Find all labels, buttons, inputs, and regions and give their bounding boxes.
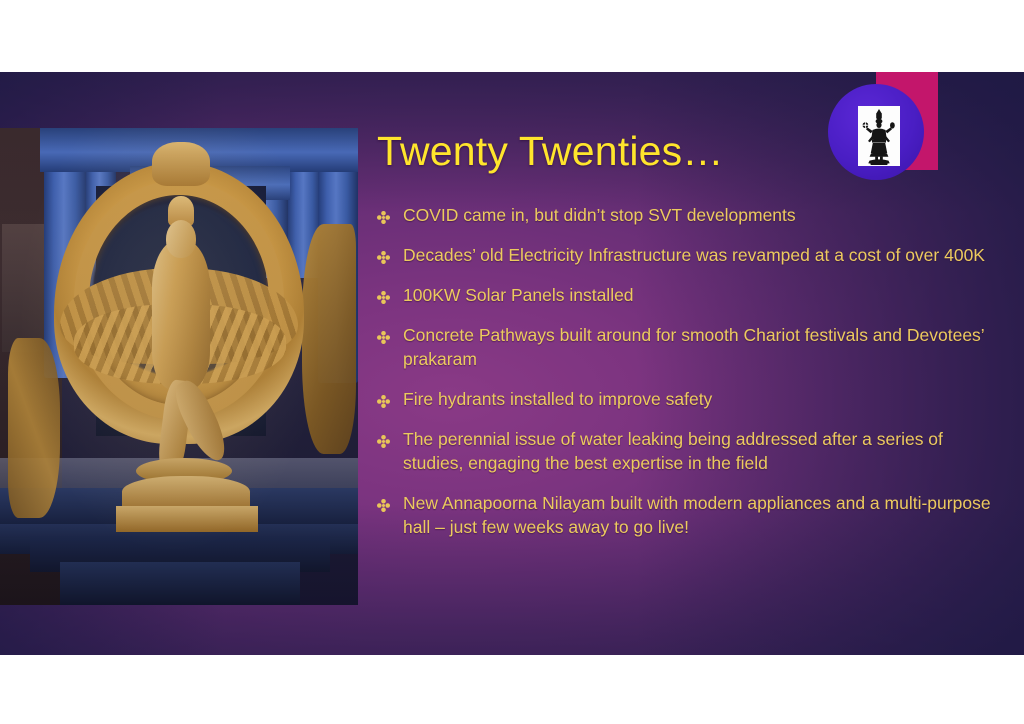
bullet-item: The perennial issue of water leaking bei…	[377, 427, 1002, 475]
bullet-item: New Annapoorna Nilayam built with modern…	[377, 491, 1002, 539]
bullet-marker-icon	[377, 427, 403, 448]
bullet-item: Decades’ old Electricity Infrastructure …	[377, 243, 1002, 267]
bullet-text: Decades’ old Electricity Infrastructure …	[403, 243, 1002, 267]
bullet-marker-icon	[377, 283, 403, 304]
bullet-item: COVID came in, but didn’t stop SVT devel…	[377, 203, 1002, 227]
slide-title: Twenty Twenties…	[377, 130, 724, 173]
organization-logo	[824, 72, 944, 180]
bullet-marker-icon	[377, 243, 403, 264]
logo-deity-card	[858, 106, 900, 166]
bullet-text: COVID came in, but didn’t stop SVT devel…	[403, 203, 1002, 227]
bullet-marker-icon	[377, 323, 403, 344]
bullet-item: Concrete Pathways built around for smoot…	[377, 323, 1002, 371]
bullet-marker-icon	[377, 491, 403, 512]
photo-highlight-sheen	[0, 128, 358, 605]
bullet-item: Fire hydrants installed to improve safet…	[377, 387, 1002, 411]
bullet-text: 100KW Solar Panels installed	[403, 283, 1002, 307]
statue-photo	[0, 128, 358, 605]
bullet-text: Concrete Pathways built around for smoot…	[403, 323, 1002, 371]
presentation-slide: Twenty Twenties… COVID came in, but didn…	[0, 72, 1024, 655]
bullet-item: 100KW Solar Panels installed	[377, 283, 1002, 307]
bullet-marker-icon	[377, 387, 403, 408]
bullet-marker-icon	[377, 203, 403, 224]
deity-icon	[858, 106, 900, 166]
bullet-text: New Annapoorna Nilayam built with modern…	[403, 491, 1002, 539]
bullet-text: Fire hydrants installed to improve safet…	[403, 387, 1002, 411]
bullet-text: The perennial issue of water leaking bei…	[403, 427, 1002, 475]
slide-bullet-list: COVID came in, but didn’t stop SVT devel…	[377, 203, 1002, 555]
